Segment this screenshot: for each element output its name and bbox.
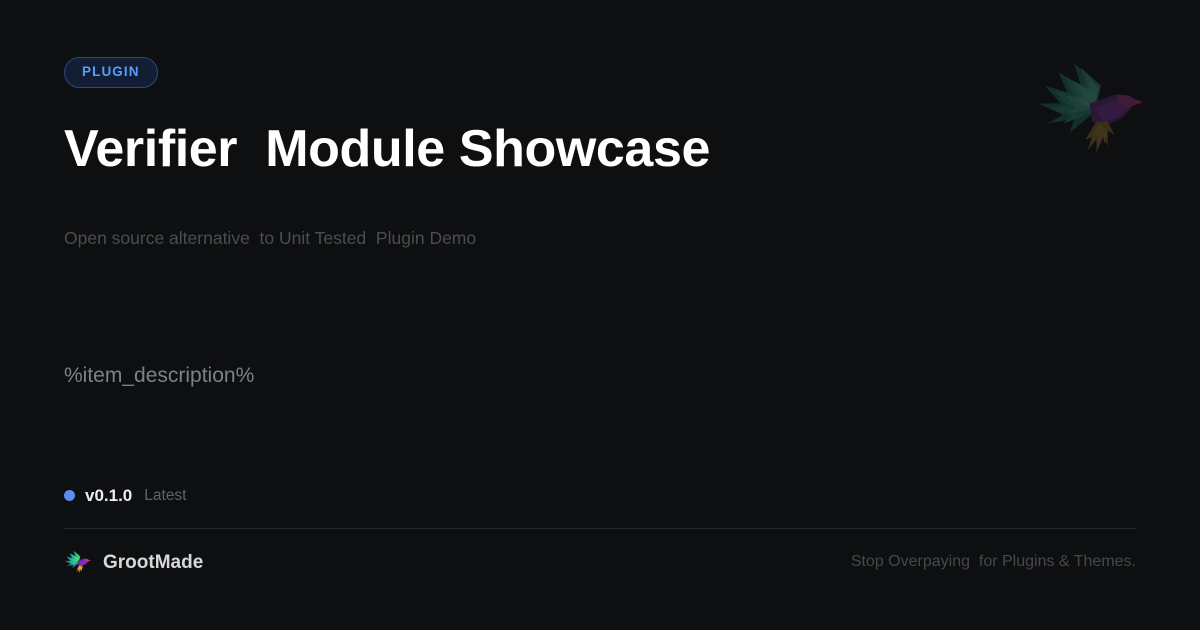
footer-divider bbox=[64, 528, 1136, 529]
brand-name: GrootMade bbox=[103, 553, 203, 572]
page-title: Verifier Module Showcase bbox=[64, 118, 710, 180]
footer: GrootMade Stop Overpaying for Plugins & … bbox=[64, 545, 1136, 579]
version-tag: Latest bbox=[144, 488, 186, 504]
version-row: v0.1.0 Latest bbox=[64, 487, 187, 504]
version-number: v0.1.0 bbox=[85, 487, 132, 504]
bird-logo-watermark-icon bbox=[1036, 52, 1148, 164]
item-description: %item_description% bbox=[64, 361, 254, 391]
brand: GrootMade bbox=[64, 548, 203, 576]
type-badge: PLUGIN bbox=[64, 57, 158, 88]
og-card: PLUGIN Verifier Module Showcase Open sou… bbox=[0, 0, 1200, 630]
bird-logo-icon bbox=[64, 548, 92, 576]
footer-tagline: Stop Overpaying for Plugins & Themes. bbox=[851, 554, 1136, 570]
status-dot-icon bbox=[64, 490, 75, 501]
page-subtitle: Open source alternative to Unit Tested P… bbox=[64, 226, 476, 250]
badge-row: PLUGIN bbox=[64, 57, 158, 88]
